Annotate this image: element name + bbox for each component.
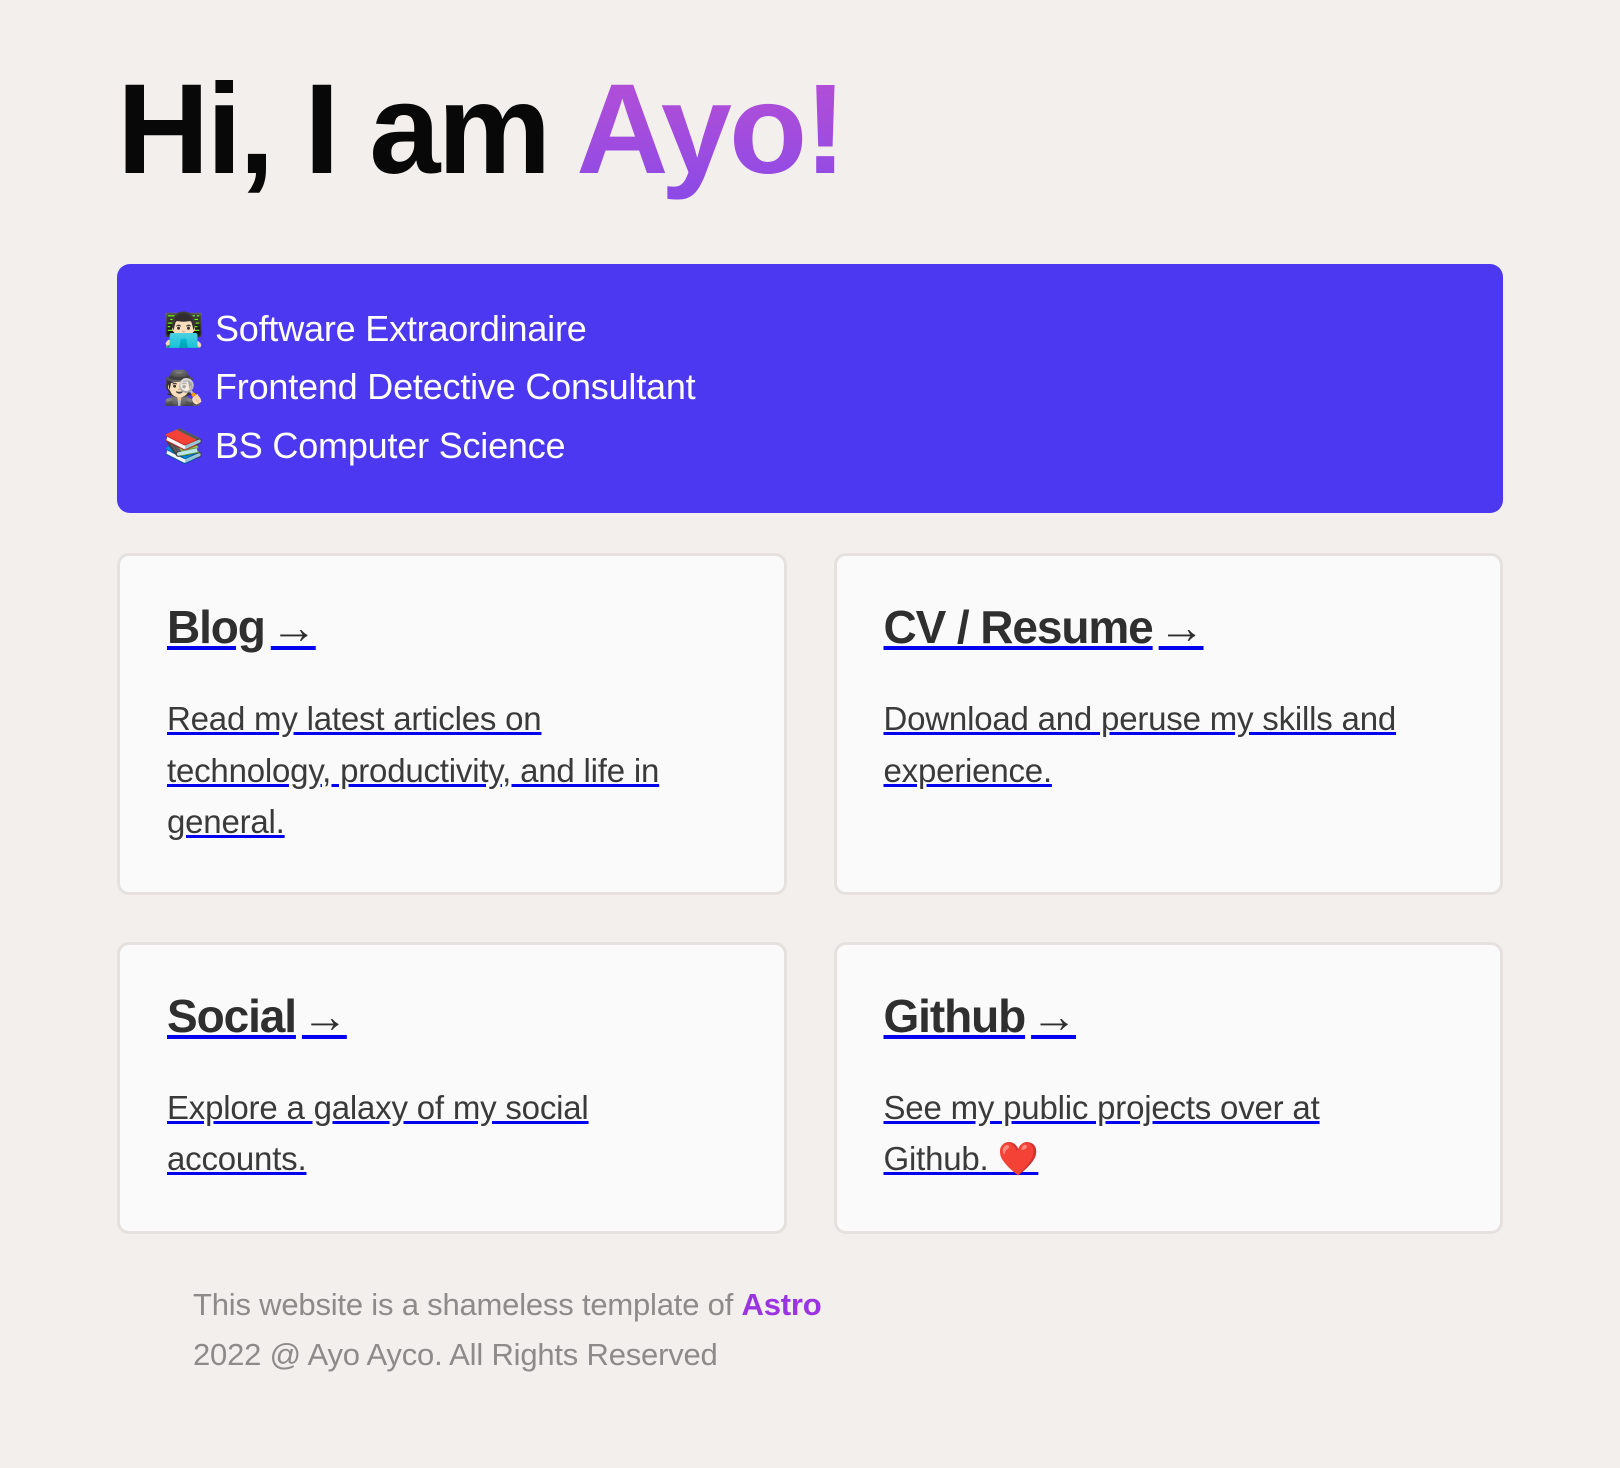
footer-credit-line: This website is a shameless template of …	[193, 1280, 1503, 1330]
intro-banner-list: 👨🏻‍💻 Software Extraordinaire 🕵🏻 Frontend…	[117, 300, 1503, 475]
intro-banner: 👨🏻‍💻 Software Extraordinaire 🕵🏻 Frontend…	[117, 264, 1503, 513]
list-item-label: Frontend Detective Consultant	[215, 358, 695, 416]
card-blog-title-text: Blog	[167, 601, 265, 653]
footer-credit-text: This website is a shameless template of	[193, 1287, 742, 1322]
list-item: 👨🏻‍💻 Software Extraordinaire	[163, 300, 1503, 358]
card-social-description: Explore a galaxy of my social accounts.	[167, 1082, 712, 1185]
list-item-label: BS Computer Science	[215, 417, 565, 475]
list-item: 📚 BS Computer Science	[163, 417, 1503, 475]
card-github-title: Github→	[884, 989, 1455, 1044]
list-item-label: Software Extraordinaire	[215, 300, 587, 358]
detective-emoji: 🕵🏻	[163, 371, 201, 404]
card-social[interactable]: Social→ Explore a galaxy of my social ac…	[117, 942, 787, 1234]
card-cv-resume-description: Download and peruse my skills and experi…	[884, 693, 1429, 796]
card-social-title: Social→	[167, 989, 738, 1044]
page-root: Hi, I am Ayo! 👨🏻‍💻 Software Extraordinai…	[0, 0, 1620, 1468]
footer-copyright: 2022 @ Ayo Ayco. All Rights Reserved	[193, 1330, 1503, 1380]
site-footer: This website is a shameless template of …	[117, 1280, 1503, 1380]
hero-name: Ayo!	[576, 58, 844, 201]
card-social-title-text: Social	[167, 990, 296, 1042]
card-cv-resume-title: CV / Resume→	[884, 600, 1455, 655]
hero-greeting: Hi, I am	[117, 58, 576, 201]
arrow-right-icon: →	[1153, 601, 1204, 653]
list-item: 🕵🏻 Frontend Detective Consultant	[163, 358, 1503, 416]
card-cv-resume[interactable]: CV / Resume→ Download and peruse my skil…	[834, 553, 1504, 895]
arrow-right-icon: →	[265, 601, 316, 653]
card-blog-title: Blog→	[167, 600, 738, 655]
card-blog[interactable]: Blog→ Read my latest articles on technol…	[117, 553, 787, 895]
page-title: Hi, I am Ayo!	[117, 0, 1503, 208]
card-github-description: See my public projects over at Github. ❤…	[884, 1082, 1429, 1185]
card-github[interactable]: Github→ See my public projects over at G…	[834, 942, 1504, 1234]
technologist-emoji: 👨🏻‍💻	[163, 313, 201, 346]
card-blog-description: Read my latest articles on technology, p…	[167, 693, 712, 847]
card-cv-resume-title-text: CV / Resume	[884, 601, 1153, 653]
astro-link[interactable]: Astro	[742, 1287, 822, 1322]
arrow-right-icon: →	[296, 990, 347, 1042]
arrow-right-icon: →	[1025, 990, 1076, 1042]
link-card-grid: Blog→ Read my latest articles on technol…	[117, 553, 1503, 1234]
card-github-title-text: Github	[884, 990, 1026, 1042]
books-emoji: 📚	[163, 429, 201, 462]
